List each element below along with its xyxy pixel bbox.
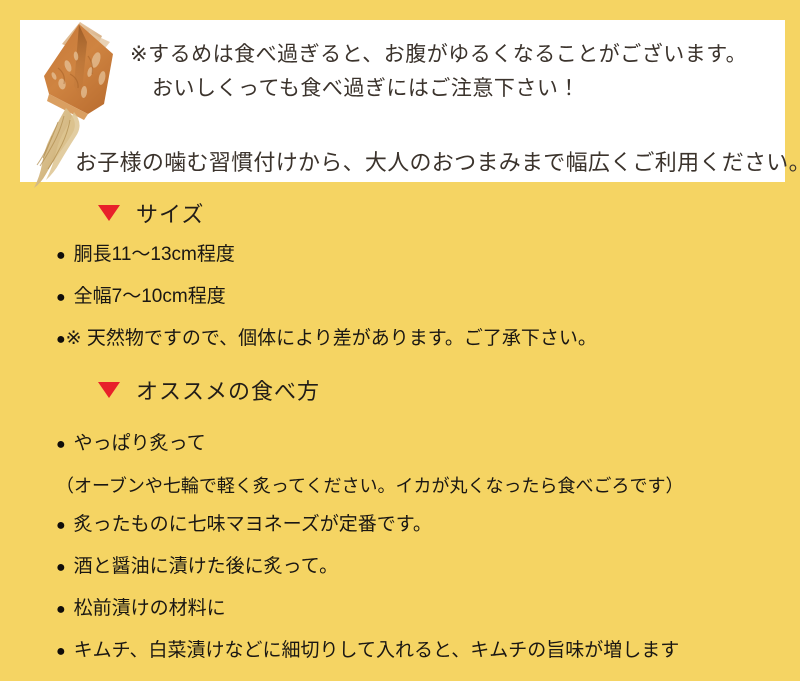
bullet-icon: ● bbox=[56, 244, 66, 268]
bullet-icon: ● bbox=[56, 433, 66, 457]
list-item: ● やっぱり炙って bbox=[56, 432, 776, 457]
bullet-icon: ● bbox=[56, 598, 66, 622]
list-item-text: やっぱり炙って bbox=[74, 432, 206, 456]
how-to-eat-list: ● やっぱり炙って （オーブンや七輪で軽く炙ってください。イカが丸くなったら食べ… bbox=[56, 432, 776, 681]
bullet-icon: ● bbox=[56, 556, 66, 580]
section-title-how-to-eat: オススメの食べ方 bbox=[136, 374, 320, 406]
list-item-note: （オーブンや七輪で軽く炙ってください。イカが丸くなったら食べごろです） bbox=[56, 474, 776, 498]
bullet-icon: ● bbox=[56, 514, 66, 538]
triangle-down-icon bbox=[98, 205, 120, 221]
section-heading-how-to-eat: オススメの食べ方 bbox=[98, 374, 320, 406]
list-item: ● 胴長11〜13cm程度 bbox=[56, 243, 776, 268]
list-item-text: キムチ、白菜漬けなどに細切りして入れると、キムチの旨味が増します bbox=[74, 639, 680, 663]
list-item: ● ※ 天然物ですので、個体により差があります。ご了承下さい。 bbox=[56, 327, 776, 352]
list-item: ● キムチ、白菜漬けなどに細切りして入れると、キムチの旨味が増します bbox=[56, 639, 776, 664]
section-title-size: サイズ bbox=[136, 197, 204, 229]
section-heading-size: サイズ bbox=[98, 197, 204, 229]
bullet-icon: ● bbox=[56, 286, 66, 310]
list-item-text: 松前漬けの材料に bbox=[74, 597, 226, 621]
notice-panel: ※するめは食べ過ぎると、お腹がゆるくなることがございます。 おいしくっても食べ過… bbox=[20, 20, 785, 182]
notice-line-1: ※するめは食べ過ぎると、お腹がゆるくなることがございます。 bbox=[130, 38, 775, 72]
list-item: ● 炙ったものに七味マヨネーズが定番です。 bbox=[56, 513, 776, 538]
bullet-icon: ● bbox=[56, 640, 66, 664]
notice-line-2: おいしくっても食べ過ぎにはご注意下さい！ bbox=[130, 72, 775, 106]
list-item-text: 酒と醤油に漬けた後に炙って。 bbox=[74, 555, 338, 579]
list-item: ● 松前漬けの材料に bbox=[56, 597, 776, 622]
list-item: ● 酒と醤油に漬けた後に炙って。 bbox=[56, 555, 776, 580]
list-item-text: 胴長11〜13cm程度 bbox=[74, 243, 235, 267]
notice-text-block: ※するめは食べ過ぎると、お腹がゆるくなることがございます。 おいしくっても食べ過… bbox=[130, 38, 775, 106]
list-item-text: ※ 天然物ですので、個体により差があります。ご了承下さい。 bbox=[66, 327, 597, 351]
size-list: ● 胴長11〜13cm程度 ● 全幅7〜10cm程度 ● ※ 天然物ですので、個… bbox=[56, 243, 776, 369]
list-item: ● 全幅7〜10cm程度 bbox=[56, 285, 776, 310]
list-item-text: 炙ったものに七味マヨネーズが定番です。 bbox=[74, 513, 432, 537]
triangle-down-icon bbox=[98, 382, 120, 398]
list-item-text: （オーブンや七輪で軽く炙ってください。イカが丸くなったら食べごろです） bbox=[56, 474, 683, 498]
notice-usage-line: お子様の噛む習慣付けから、大人のおつまみまで幅広くご利用ください。 bbox=[75, 148, 795, 178]
list-item-text: 全幅7〜10cm程度 bbox=[74, 285, 226, 309]
bullet-icon: ● bbox=[56, 328, 66, 352]
